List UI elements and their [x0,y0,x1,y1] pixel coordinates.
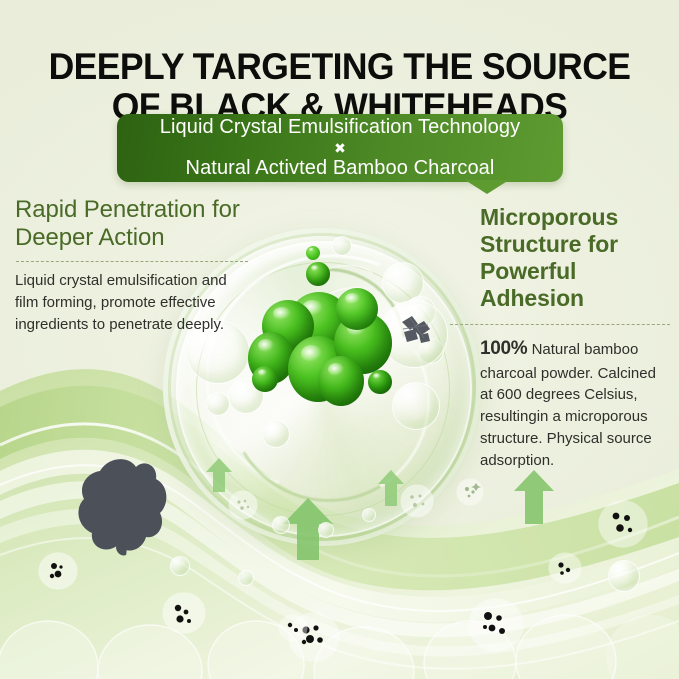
badge-line-1: Liquid Crystal Emulsification Technology [160,116,520,139]
infographic-canvas: DEEPLY TARGETING THE SOURCE OF BLACK & W… [0,0,679,679]
badge-cross-icon: ✖ [334,140,346,157]
right-panel-heading: Microporous Structure for Powerful Adhes… [480,204,670,312]
left-panel-body: Liquid crystal emulsification and film f… [15,270,227,335]
text-layer: DEEPLY TARGETING THE SOURCE OF BLACK & W… [0,0,679,679]
left-panel-heading: Rapid Penetration for Deeper Action [15,196,255,252]
left-panel-divider [16,261,248,262]
badge-tail-notch [465,180,509,194]
right-panel-body-text: Natural bamboo charcoal powder. Calcined… [480,341,656,469]
right-panel-divider [450,324,670,325]
percent-value: 100% [480,338,527,359]
technology-badge: Liquid Crystal Emulsification Technology… [117,114,563,182]
title-line-1: DEEPLY TARGETING THE SOURCE [49,46,631,87]
right-panel-body: 100% Natural bamboo charcoal powder. Cal… [480,335,670,471]
badge-line-2: Natural Activted Bamboo Charcoal [186,157,495,180]
